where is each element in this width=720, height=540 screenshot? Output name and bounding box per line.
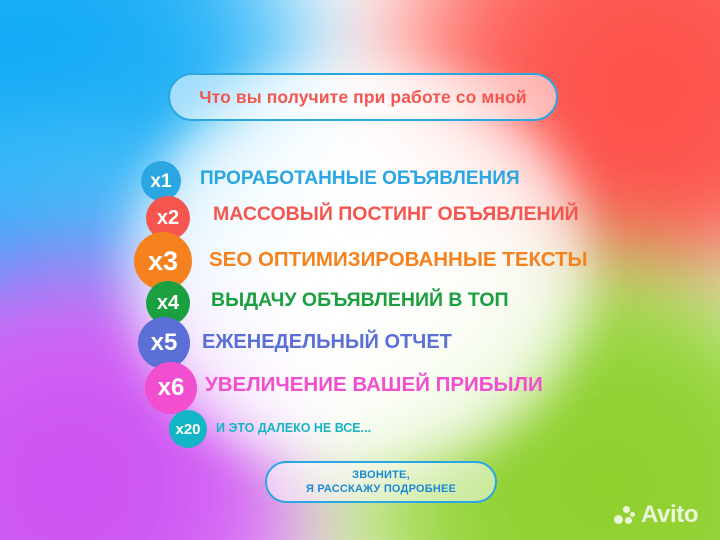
benefit-label-x1: ПРОРАБОТАННЫЕ ОБЪЯВЛЕНИЯ <box>200 169 520 188</box>
avito-dots-icon <box>614 505 636 525</box>
avito-watermark: Avito <box>614 503 698 527</box>
benefit-badge-x6: x6 <box>145 362 197 414</box>
benefit-label-x6: УВЕЛИЧЕНИЕ ВАШЕЙ ПРИБЫЛИ <box>205 375 543 396</box>
benefits-list: x1ПРОРАБОТАННЫЕ ОБЪЯВЛЕНИЯx2МАССОВЫЙ ПОС… <box>0 0 720 540</box>
call-to-action-button[interactable]: ЗВОНИТЕ, Я РАССКАЖУ ПОДРОБНЕЕ <box>265 461 497 503</box>
cta-line-1: ЗВОНИТЕ, <box>352 468 410 482</box>
cta-line-2: Я РАССКАЖУ ПОДРОБНЕЕ <box>306 482 456 496</box>
benefit-label-x2: МАССОВЫЙ ПОСТИНГ ОБЪЯВЛЕНИЙ <box>213 205 579 225</box>
promo-banner: Что вы получите при работе со мной x1ПРО… <box>0 0 720 540</box>
benefit-label-x4: ВЫДАЧУ ОБЪЯВЛЕНИЙ В ТОП <box>211 291 509 311</box>
benefit-label-x20: И ЭТО ДАЛЕКО НЕ ВСЕ... <box>216 422 371 435</box>
benefit-badge-x20: x20 <box>169 410 207 448</box>
benefit-label-x5: ЕЖЕНЕДЕЛЬНЫЙ ОТЧЕТ <box>202 332 452 352</box>
benefit-label-x3: SEO ОПТИМИЗИРОВАННЫЕ ТЕКСТЫ <box>209 250 588 271</box>
benefit-badge-x1: x1 <box>141 161 181 201</box>
benefit-badge-x5: x5 <box>138 317 190 369</box>
avito-brand-label: Avito <box>641 503 698 527</box>
